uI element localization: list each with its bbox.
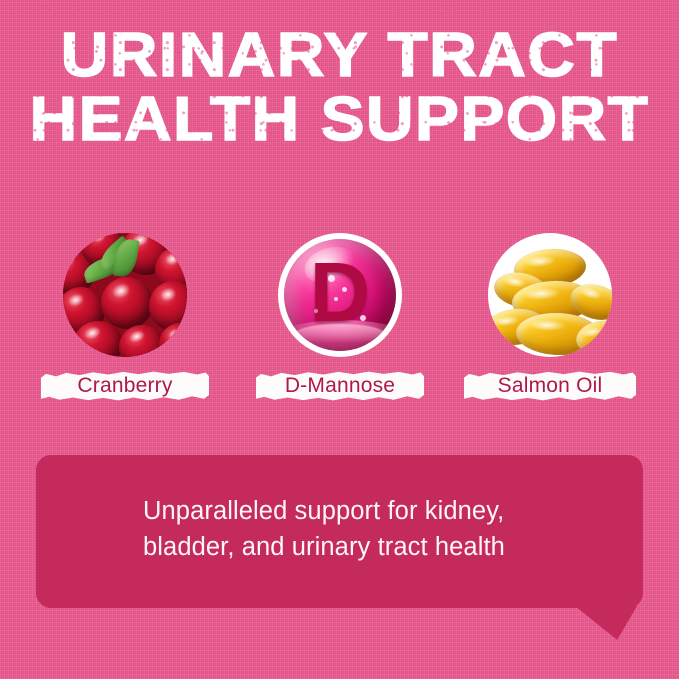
ingredient-label-d-mannose: D-Mannose xyxy=(285,374,395,398)
title-line-2: HEALTH SUPPORT xyxy=(0,88,679,152)
ingredient-cranberry: Cranberry xyxy=(63,233,187,357)
ingredient-label-banner: Salmon Oil xyxy=(464,370,636,402)
callout-line-1: Unparalleled support for kidney, xyxy=(143,493,613,529)
d-mannose-image: D xyxy=(278,233,402,357)
ingredient-label-banner: Cranberry xyxy=(41,370,209,402)
callout-speech-bubble: Unparalleled support for kidney, bladder… xyxy=(36,455,643,640)
pink-sphere-icon: D xyxy=(284,239,396,351)
callout-tail xyxy=(575,606,637,640)
page-title: URINARY TRACT HEALTH SUPPORT xyxy=(0,24,679,152)
title-line-1: URINARY TRACT xyxy=(0,24,679,88)
callout-line-2: bladder, and urinary tract health xyxy=(143,529,613,565)
ingredient-label-cranberry: Cranberry xyxy=(77,374,172,398)
callout-text: Unparalleled support for kidney, bladder… xyxy=(143,493,613,565)
cranberry-image xyxy=(63,233,187,357)
salmon-oil-image xyxy=(488,233,612,357)
product-infographic-poster: URINARY TRACT HEALTH SUPPORT xyxy=(0,0,679,679)
ingredient-label-salmon-oil: Salmon Oil xyxy=(498,374,603,398)
ingredient-label-banner: D-Mannose xyxy=(256,370,424,402)
ingredient-salmon-oil: Salmon Oil xyxy=(488,233,612,357)
ingredient-d-mannose: D D-Mannose xyxy=(278,233,402,357)
ingredient-row: Cranberry D D-Mannose xyxy=(0,233,679,408)
